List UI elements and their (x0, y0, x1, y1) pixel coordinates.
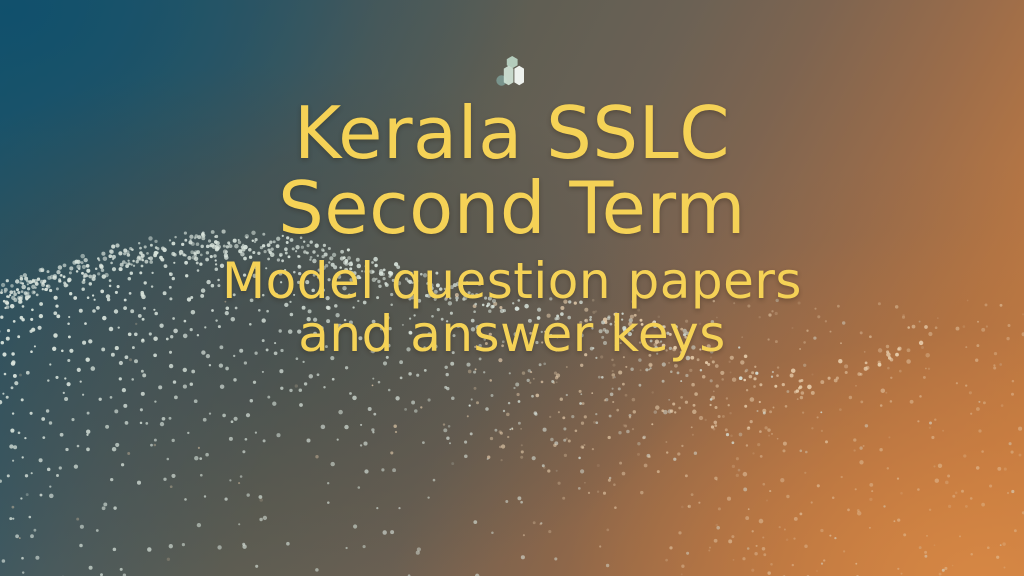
subheadline-line-1: Model question papers (222, 252, 802, 310)
headline-line-1: Kerala SSLC (294, 91, 730, 175)
poster-headline: Kerala SSLC Second Term (0, 98, 1024, 243)
headline-line-2: Second Term (0, 173, 1024, 244)
logo-container (0, 52, 1024, 92)
poster-canvas: Kerala SSLC Second Term Model question p… (0, 0, 1024, 576)
poster-text-block: Kerala SSLC Second Term Model question p… (0, 98, 1024, 361)
hexagon-cluster-logo (492, 52, 532, 92)
subheadline-line-2: and answer keys (0, 308, 1024, 361)
poster-subheadline: Model question papers and answer keys (0, 255, 1024, 361)
